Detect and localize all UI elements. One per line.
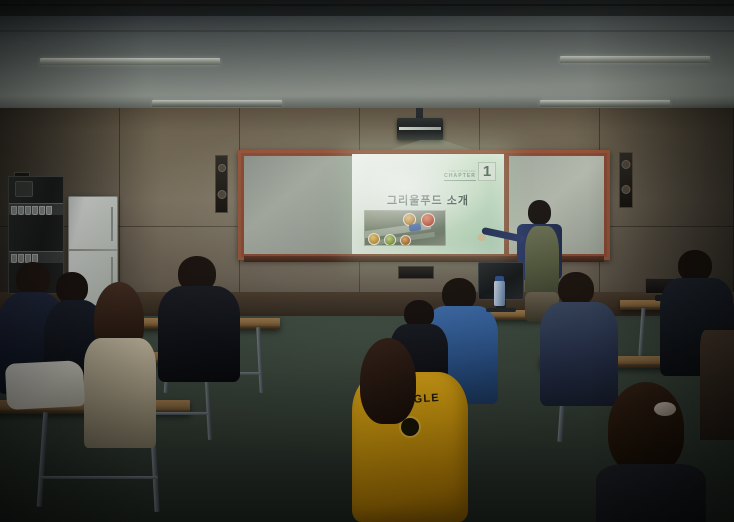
presenter-head [528,200,551,225]
attendee-right-navy [540,272,618,402]
hair-clip [654,402,676,416]
attendee-body [596,464,706,522]
cup-shelf [9,203,63,215]
slide-photo [364,210,446,246]
water-bottle [494,280,505,306]
ceiling [0,0,734,120]
desk-rail [40,476,158,479]
ceiling-projector [397,118,443,140]
attendee-long-hair-left [86,282,162,442]
attendee-hair [360,338,416,424]
water-bottle-cap [495,276,504,281]
wall-speaker-left [215,155,228,213]
monitor-base [486,308,516,312]
presenter-hand [477,234,486,241]
attendee-far-right-edge [700,330,734,440]
attendee-coat [84,338,156,448]
attendee-body [700,330,734,440]
ceiling-light-fixture [40,58,220,65]
attendee-front-left-dark [158,256,240,376]
slide-chapter-block: THE STANDARD CHAPTER 1 [444,162,496,181]
attendee-hair [608,382,684,474]
white-bag-on-desk [5,360,85,410]
dispenser-tap [15,181,33,197]
attendee-yellow-jacket: W.ANGLE [352,372,468,522]
whiteboard-panel-left [244,156,354,254]
slide-chapter-word: CHAPTER [444,173,476,181]
slide-chapter-number: 1 [478,162,496,181]
lecture-room-photo: THE STANDARD CHAPTER 1 그리울푸드 소개 [0,0,734,522]
slide-title: 그리울푸드 소개 [352,192,504,208]
attendee-head [16,262,50,296]
wall-speaker-right [619,152,633,208]
attendee-right-front [596,400,706,522]
attendee-body [540,302,618,406]
attendee-body [158,286,240,382]
ceiling-light-fixture [560,56,710,63]
attendee-head [558,272,594,306]
